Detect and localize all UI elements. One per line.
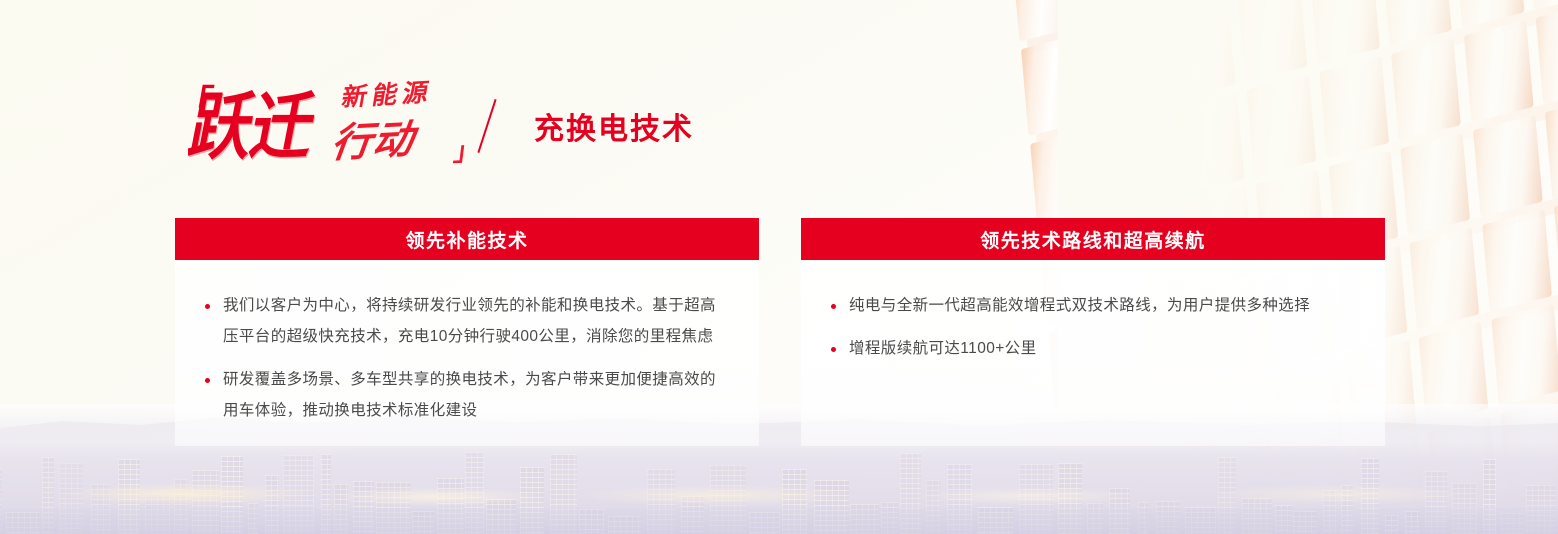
card-header: 领先补能技术 — [175, 218, 759, 260]
slash-divider-icon — [477, 99, 496, 153]
tower-rail — [1026, 0, 1558, 54]
city-building — [1019, 464, 1053, 534]
city-building — [1275, 505, 1292, 534]
tower-slat — [1382, 0, 1452, 46]
city-building — [376, 482, 410, 534]
tower-slat — [1284, 453, 1354, 534]
tower-slat — [1067, 507, 1137, 534]
city-building — [782, 469, 807, 534]
tower-slat — [1093, 16, 1163, 118]
city-building — [1385, 515, 1398, 534]
city-building — [0, 469, 2, 534]
city-building — [1341, 485, 1354, 534]
tower-slat — [1500, 399, 1558, 501]
tower-slat — [1509, 493, 1558, 534]
city-building — [1452, 483, 1477, 534]
brand-sub-bottom-text: 行动 — [329, 120, 417, 164]
city-building — [1218, 457, 1236, 534]
city-building — [283, 455, 314, 534]
city-building — [42, 457, 53, 534]
tower-slat — [1419, 322, 1489, 424]
tower-slat — [1139, 489, 1209, 534]
city-building — [1483, 459, 1496, 534]
tower-slat — [1545, 97, 1558, 199]
tower-slat — [1473, 115, 1543, 217]
city-building — [647, 469, 674, 534]
tower-slat — [1175, 92, 1245, 194]
city-building — [850, 504, 879, 534]
city-building — [1425, 471, 1447, 534]
city-building — [978, 507, 1014, 534]
brand-main-text: 跃迁 — [184, 92, 320, 165]
city-building — [681, 496, 704, 534]
city-building — [926, 480, 941, 534]
city-river — [0, 508, 1558, 534]
list-item: 增程版续航可达1100+公里 — [827, 333, 1351, 364]
tower-slat — [1365, 529, 1435, 534]
city-building — [221, 456, 243, 534]
city-building — [437, 478, 464, 534]
city-building — [814, 480, 850, 534]
tower-slat — [1211, 471, 1281, 534]
card-leading-energy-replenishment: 领先补能技术 我们以客户为中心，将持续研发行业领先的补能和换电技术。基于超高压平… — [175, 218, 759, 446]
city-building — [1501, 513, 1525, 534]
city-building — [353, 481, 374, 534]
tower-rail — [1081, 448, 1558, 534]
tower-slat — [1428, 417, 1498, 519]
city-building — [579, 509, 604, 534]
list-item: 我们以客户为中心，将持续研发行业领先的补能和换电技术。基于超高压平台的超级快充技… — [201, 290, 725, 352]
city-building — [1138, 502, 1150, 534]
tower-slat — [1482, 209, 1552, 311]
tower-slat — [1400, 133, 1470, 235]
tower-slat — [1310, 0, 1380, 64]
city-building — [145, 494, 171, 534]
tower-slat — [1410, 227, 1480, 329]
city-building — [59, 463, 84, 534]
city-building — [550, 454, 577, 534]
bullet-list: 我们以客户为中心，将持续研发行业领先的补能和换电技术。基于超高压平台的超级快充技… — [201, 290, 725, 426]
city-building — [1242, 498, 1273, 534]
tower-slat — [1527, 0, 1558, 10]
list-item: 研发覆盖多场景、多车型共享的换电技术，为客户带来更加便捷高效的用车体验，推动换电… — [201, 364, 725, 426]
city-building — [1109, 488, 1129, 534]
city-building — [608, 516, 640, 534]
city-building — [1156, 501, 1180, 534]
tower-slat — [1102, 110, 1172, 212]
city-building — [1185, 507, 1215, 534]
city-building — [1405, 511, 1420, 534]
city-building — [881, 502, 898, 534]
city-building — [412, 511, 433, 534]
card-leading-tech-route-range: 领先技术路线和超高续航 纯电与全新一代超高能效增程式双技术路线，为用户提供多种选… — [801, 218, 1385, 446]
card-body: 我们以客户为中心，将持续研发行业领先的补能和换电技术。基于超高压平台的超级快充技… — [175, 260, 759, 446]
city-building — [1526, 485, 1556, 534]
city-building — [1361, 458, 1379, 534]
city-building — [1058, 463, 1082, 534]
city-building — [947, 464, 972, 534]
page-title: 充换电技术 — [534, 104, 694, 148]
city-building — [1293, 511, 1316, 534]
tower-slat — [1012, 0, 1082, 41]
tower-slat — [1356, 435, 1426, 534]
tower-band — [1005, 0, 1558, 40]
city-building — [1323, 490, 1337, 534]
city-building — [248, 503, 259, 534]
tower-slat — [1238, 0, 1308, 82]
city-building — [6, 512, 40, 534]
tower-slat — [1454, 0, 1524, 28]
card-body: 纯电与全新一代超高能效增程式双技术路线，为用户提供多种选择 增程版续航可达110… — [801, 260, 1385, 446]
city-building — [118, 459, 140, 534]
tower-rail — [1035, 0, 1558, 149]
city-building — [749, 512, 781, 534]
tower-slat — [1156, 0, 1226, 5]
tower-band — [1014, 0, 1558, 134]
tower-slat — [1536, 2, 1558, 104]
tower-slat — [1554, 191, 1558, 293]
brand-logo: 「 跃迁 新能源 行动 」 — [176, 80, 476, 172]
city-building — [91, 484, 111, 534]
card-container: 领先补能技术 我们以客户为中心，将持续研发行业领先的补能和换电技术。基于超高压平… — [175, 218, 1385, 446]
tower-slat — [1464, 20, 1534, 122]
city-building — [1087, 503, 1103, 534]
city-building — [486, 499, 516, 534]
list-item: 纯电与全新一代超高能效增程式双技术路线，为用户提供多种选择 — [827, 290, 1351, 321]
brand-lockup: 「 跃迁 新能源 行动 」 充换电技术 — [176, 78, 694, 174]
tower-slat — [1030, 128, 1100, 230]
promo-banner: 「 跃迁 新能源 行动 」 充换电技术 领先补能技术 我们以客户为中心，将持续研… — [0, 0, 1558, 534]
city-building — [465, 452, 483, 534]
tower-slat — [1437, 511, 1507, 534]
brand-sub-top-text: 新能源 — [340, 81, 435, 111]
city-building — [710, 465, 746, 534]
city-building — [174, 479, 188, 534]
city-building — [265, 475, 280, 534]
tower-slat — [1165, 0, 1235, 100]
tower-slat — [1084, 0, 1154, 23]
tower-band — [1024, 0, 1558, 229]
city-building — [321, 454, 331, 534]
tower-slat — [1319, 56, 1389, 158]
card-header: 领先技术路线和超高续航 — [801, 218, 1385, 260]
city-building — [192, 470, 219, 534]
tower-slat — [1021, 34, 1091, 136]
tower-slat — [1247, 74, 1317, 176]
tower-slat — [1391, 38, 1461, 140]
tower-band — [1069, 459, 1558, 534]
city-building — [900, 453, 921, 534]
bullet-list: 纯电与全新一代超高能效增程式双技术路线，为用户提供多种选择 增程版续航可达110… — [827, 290, 1351, 364]
city-building — [334, 484, 349, 534]
city-lights-glow — [0, 472, 1558, 512]
city-building — [520, 467, 544, 534]
tower-slat — [1491, 304, 1558, 406]
